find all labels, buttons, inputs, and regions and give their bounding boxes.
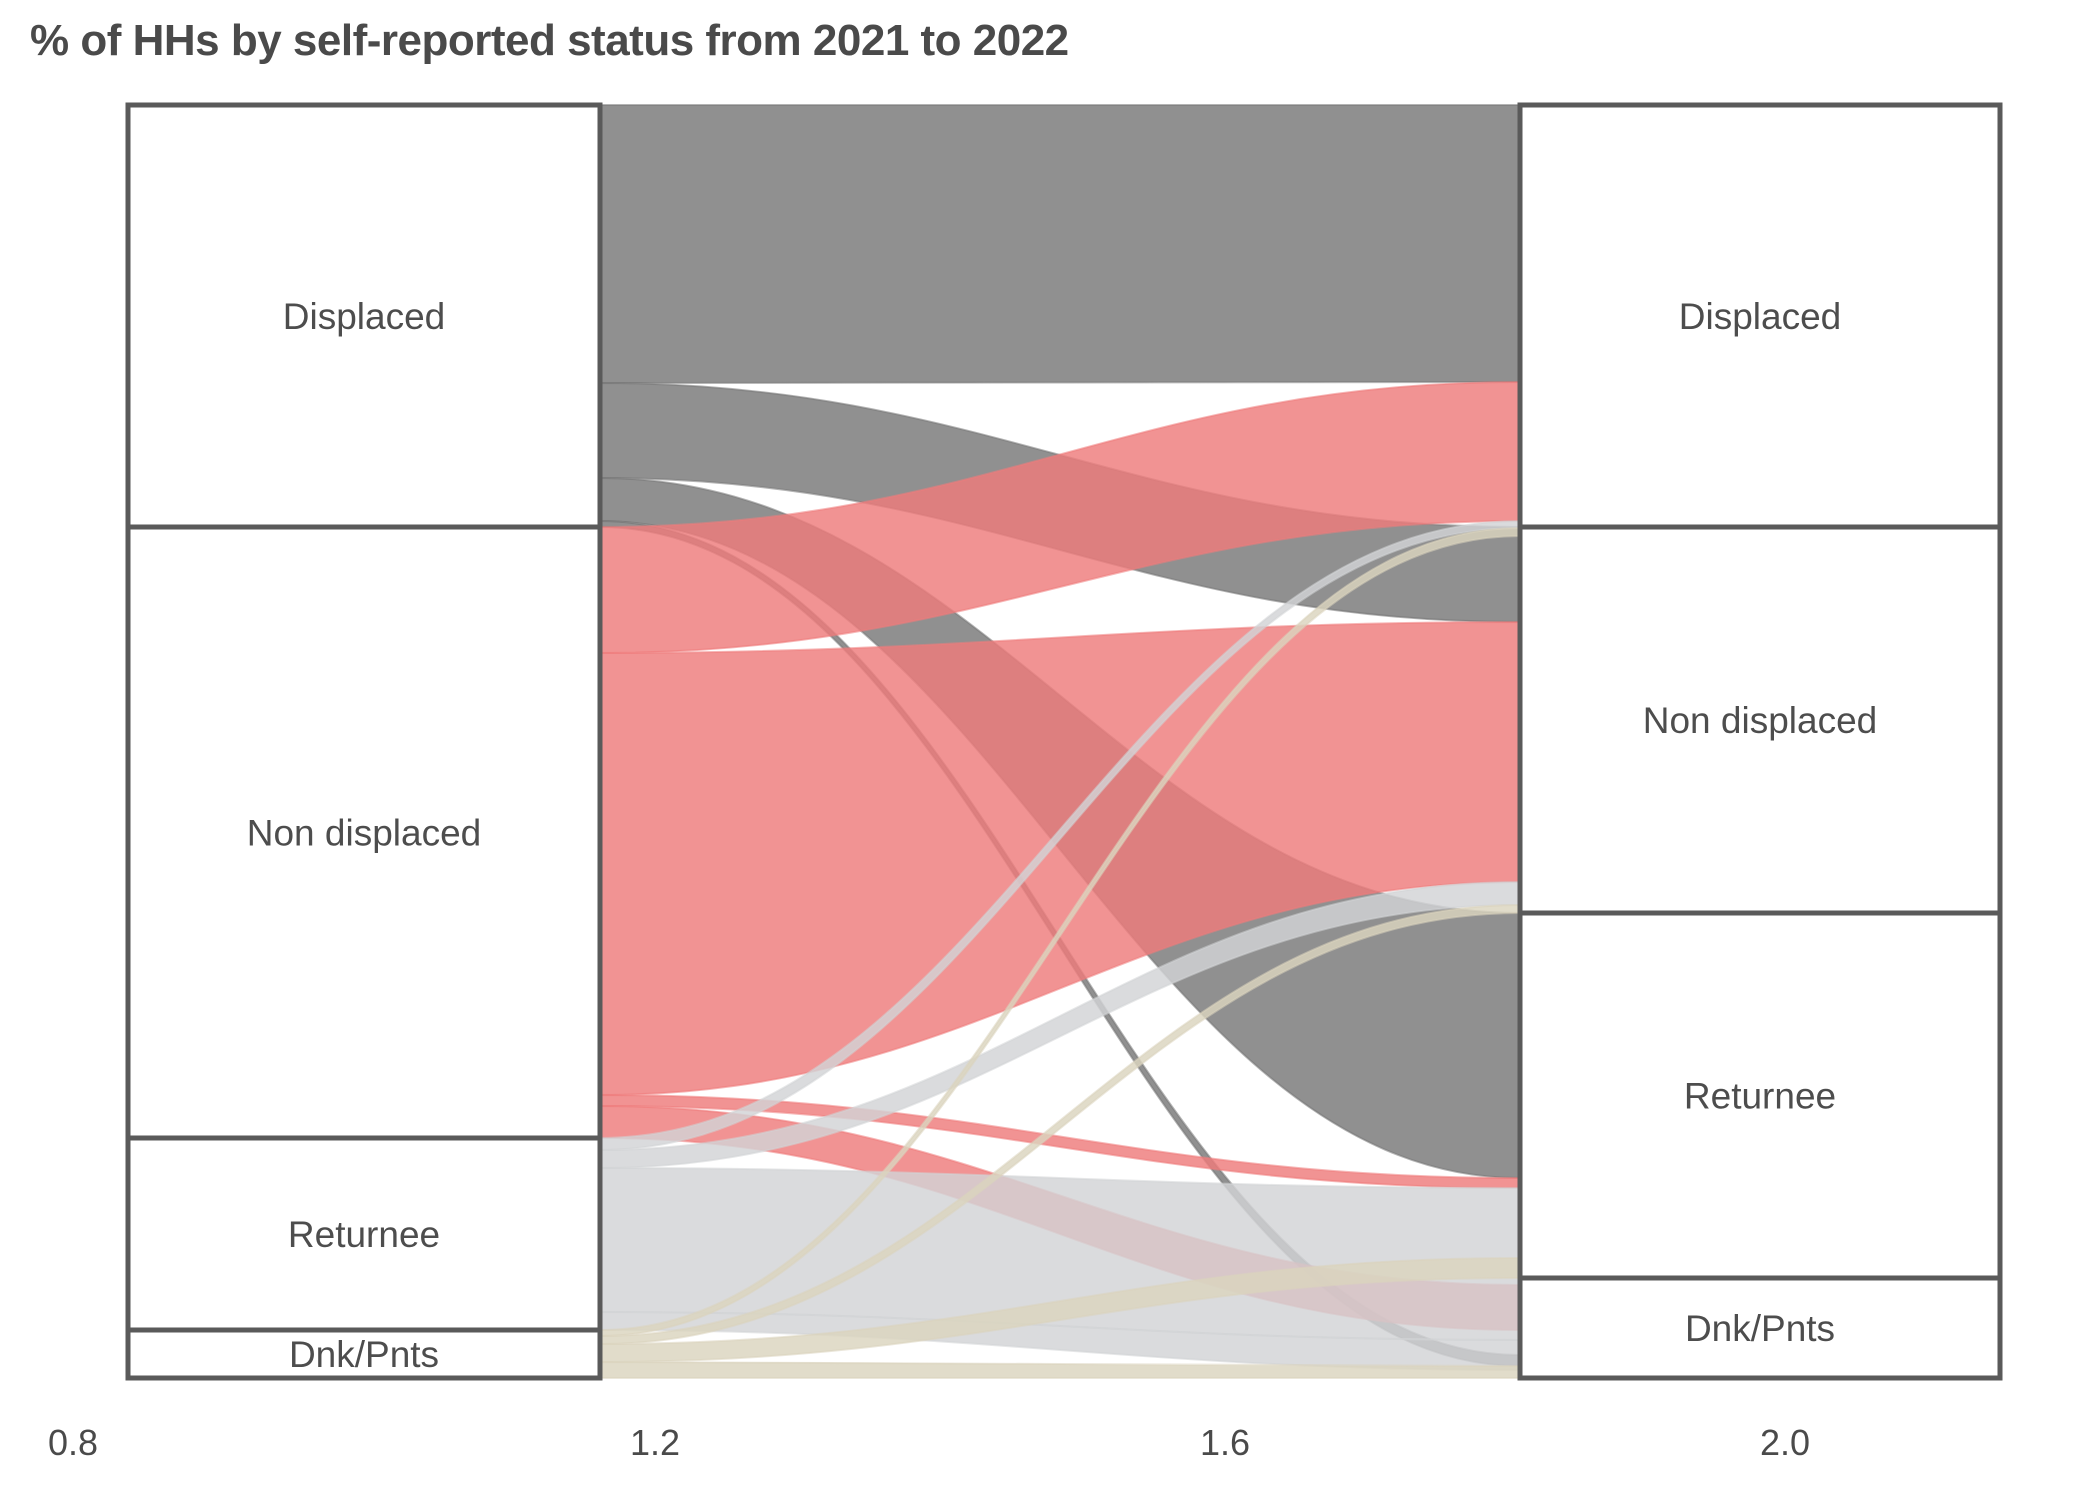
node-label-right-dnk-pnts: Dnk/Pnts (1685, 1308, 1835, 1349)
node-label-left-non-displaced: Non displaced (247, 813, 481, 854)
flow-link[interactable] (600, 105, 1520, 383)
node-label-left-displaced: Displaced (283, 296, 445, 337)
node-label-left-dnk-pnts: Dnk/Pnts (289, 1334, 439, 1375)
sankey-plot: DisplacedNon displacedReturneeDnk/PntsDi… (0, 0, 2100, 1500)
axis-tick-label: 0.8 (48, 1422, 98, 1463)
node-label-right-displaced: Displaced (1679, 296, 1841, 337)
axis-tick-label: 1.6 (1200, 1422, 1250, 1463)
axis-tick-label: 2.0 (1760, 1422, 1810, 1463)
alluvial-chart-root: % of HHs by self-reported status from 20… (0, 0, 2100, 1500)
node-label-left-returnee: Returnee (288, 1214, 440, 1255)
node-label-right-returnee: Returnee (1684, 1076, 1836, 1117)
axis-tick-label: 1.2 (630, 1422, 680, 1463)
x-axis-layer: 0.81.21.62.0 (48, 1422, 1810, 1463)
flow-links-layer (600, 105, 1520, 1378)
node-label-right-non-displaced: Non displaced (1643, 700, 1877, 741)
